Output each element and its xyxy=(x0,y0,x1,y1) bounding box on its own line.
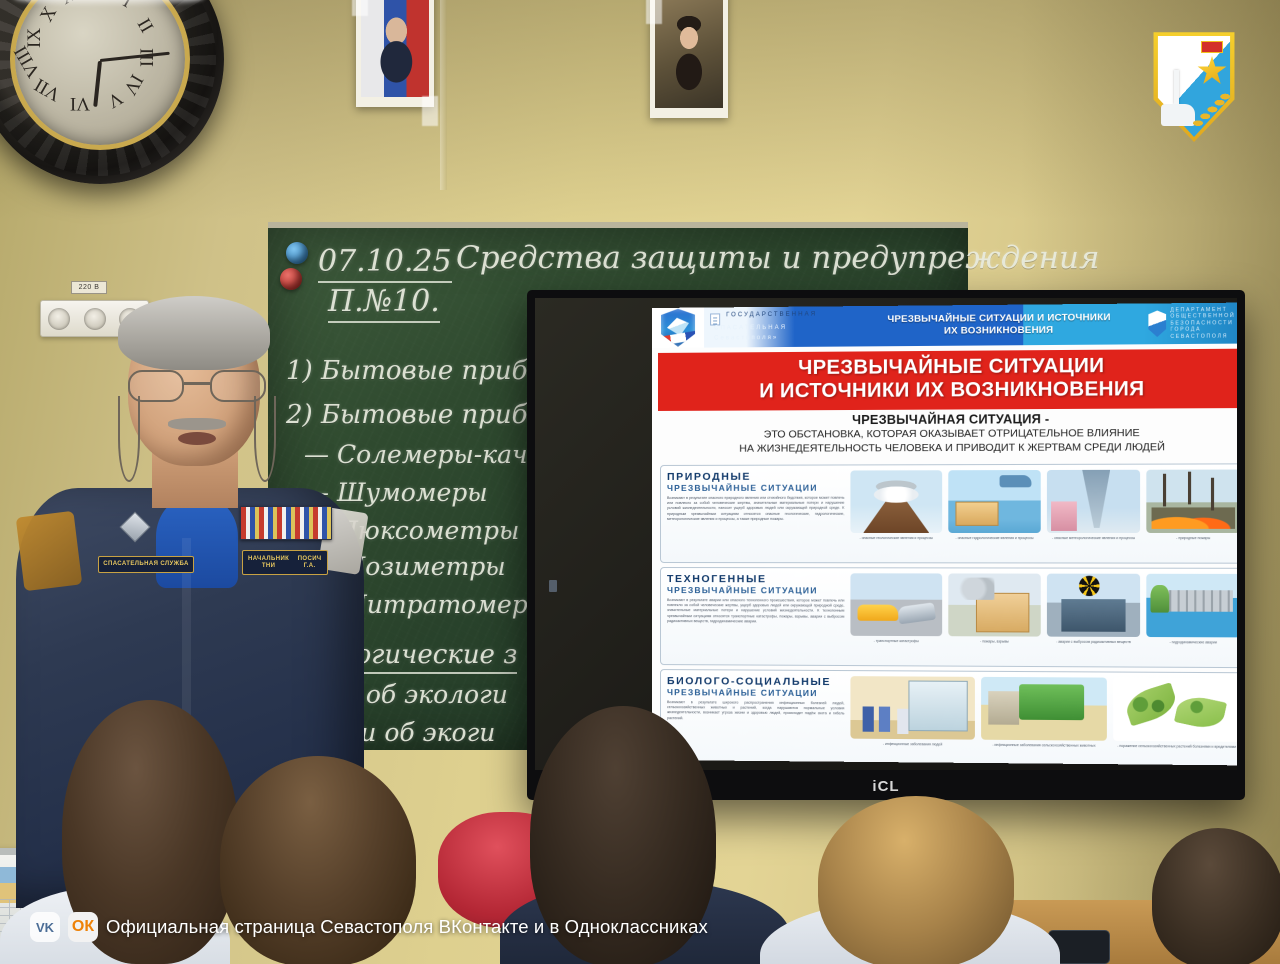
eyeglasses-icon xyxy=(126,370,268,404)
speaker-mouth xyxy=(178,432,216,445)
portrait-tape xyxy=(646,0,662,24)
image-caption: - опасные метеорологические явления и пр… xyxy=(1052,536,1135,541)
car-crash-icon xyxy=(850,573,942,636)
category-subheading: ЧРЕЗВЫЧАЙНЫЕ СИТУАЦИИ xyxy=(667,687,844,698)
category-text: БИОЛОГО-СОЦИАЛЬНЫЕ ЧРЕЗВЫЧАЙНЫЕ СИТУАЦИИ… xyxy=(667,675,844,763)
photo-scene: XIIIIIIIIIVVVIVIIVIIIIXXXI 220 В 07.10.2… xyxy=(0,0,1280,964)
image-caption: - транспортные катастрофы xyxy=(874,639,919,644)
dept-line5: СЕВАСТОПОЛЯ xyxy=(1170,333,1228,340)
slide-image: - опасные гидрологические явления и проц… xyxy=(948,470,1040,557)
image-caption: - инфекционные заболевания сельскохозяйс… xyxy=(992,743,1095,749)
slide-image: - гидродинамические аварии xyxy=(1146,574,1237,662)
presentation-slide[interactable]: ГОСУДАРСТВЕННАЯ СПАСАТЕЛЬНАЯ Севастополя… xyxy=(652,302,1237,765)
slide-header-title: ЧРЕЗВЫЧАЙНЫЕ СИТУАЦИИ И ИСТОЧНИКИ ИХ ВОЗ… xyxy=(856,304,1144,347)
category-heading: ПРИРОДНЫЕ xyxy=(667,471,844,483)
category-images: - опасные геологические явления и процес… xyxy=(850,470,1237,558)
tornado-icon xyxy=(1047,470,1140,533)
name-tag-line1: НАЧАЛЬНИК ТНИ xyxy=(244,556,293,570)
image-caption: - гидродинамические аварии xyxy=(1169,640,1216,645)
category-images: - транспортные катастрофы - пожары, взры… xyxy=(850,573,1237,662)
category-body: Возникают в результате аварии или опасно… xyxy=(667,598,844,625)
category-text: ПРИРОДНЫЕ ЧРЕЗВЫЧАЙНЫЕ СИТУАЦИИ Возникаю… xyxy=(667,471,844,558)
board-title: Средства защиты и предупреждения xyxy=(456,240,1099,276)
image-caption: - природные пожары xyxy=(1176,536,1210,541)
wildfire-icon xyxy=(1146,470,1237,533)
rescue-service-shield-icon xyxy=(652,308,704,348)
slide-definition: ЧРЕЗВЫЧАЙНАЯ СИТУАЦИЯ - ЭТО ОБСТАНОВКА, … xyxy=(652,408,1237,461)
ir-sensor-icon xyxy=(549,580,557,592)
slide-image: - инфекционные заболевания сельскохозяйс… xyxy=(981,677,1107,765)
category-heading: ТЕХНОГЕННЫЕ xyxy=(667,573,844,585)
slide-image: - опасные геологические явления и процес… xyxy=(850,470,942,557)
epidemic-clinic-icon xyxy=(850,676,974,740)
slide-image: - аварии с выбросом радиоактивных вещест… xyxy=(1047,574,1140,662)
department-text: ДЕПАРТАМЕНТ ОБЩЕСТВЕННОЙ БЕЗОПАСНОСТИ ГО… xyxy=(1170,307,1235,341)
clock-numeral: IV xyxy=(118,70,147,98)
wall-seam xyxy=(440,0,447,190)
definition-line2: НА ЖИЗНЕДЕЯТЕЛЬНОСТЬ ЧЕЛОВЕКА И ПРИВОДИТ… xyxy=(662,441,1237,456)
category-body: Возникают в результате опасного природно… xyxy=(667,496,844,522)
red-magnet-icon xyxy=(280,268,302,290)
image-caption: - инфекционные заболевания людей xyxy=(883,742,942,747)
sevastopol-coat-of-arms-icon xyxy=(1148,30,1240,142)
image-caption: - опасные гидрологические явления и проц… xyxy=(955,536,1033,541)
slide-banner: ЧРЕЗВЫЧАЙНЫЕ СИТУАЦИИ И ИСТОЧНИКИ ИХ ВОЗ… xyxy=(658,349,1237,411)
hydro-dam-icon xyxy=(1146,574,1237,638)
speaker-tshirt xyxy=(156,496,238,588)
name-tag: НАЧАЛЬНИК ТНИ ПОСИЧ Г.А. xyxy=(242,550,328,575)
header-title-line1: ЧРЕЗВЫЧАЙНЫЕ СИТУАЦИИ И ИСТОЧНИКИ xyxy=(887,312,1110,326)
speaker-hair xyxy=(118,296,270,370)
icl-logo-icon: iCL xyxy=(872,778,899,795)
image-caption: - поражение сельскохозяйственных растени… xyxy=(1117,744,1236,750)
org-line2: СПАСАТЕЛЬНАЯ xyxy=(714,324,787,333)
category-images: - инфекционные заболевания людей - инфек… xyxy=(850,676,1237,765)
department-block: ДЕПАРТАМЕНТ ОБЩЕСТВЕННОЙ БЕЗОПАСНОСТИ ГО… xyxy=(1143,302,1237,344)
veterinary-icon xyxy=(981,677,1107,741)
banner-line1: ЧРЕЗВЫЧАЙНЫЕ СИТУАЦИИ xyxy=(658,354,1237,381)
portrait-putin-image xyxy=(361,0,429,97)
clock-numeral: IX xyxy=(24,28,46,48)
org-line3: Севастополя» xyxy=(714,334,778,343)
definition-term: ЧРЕЗВЫЧАЙНАЯ СИТУАЦИЯ - xyxy=(662,411,1237,428)
speaker-mustache xyxy=(168,418,226,430)
order-ribbon-icon xyxy=(1201,41,1223,53)
image-caption: - аварии с выбросом радиоактивных вещест… xyxy=(1056,640,1131,645)
nuclear-plant-icon xyxy=(1047,574,1140,637)
dept-line2: ОБЩЕСТВЕННОЙ xyxy=(1170,313,1235,320)
category-body: Возникают в результате широкого распрост… xyxy=(667,700,844,722)
clock-numeral: VI xyxy=(70,92,90,114)
clock-numeral: X xyxy=(36,3,62,26)
category-biosocial: БИОЛОГО-СОЦИАЛЬНЫЕ ЧРЕЗВЫЧАЙНЫЕ СИТУАЦИИ… xyxy=(660,669,1237,765)
blue-magnet-icon xyxy=(286,242,308,264)
category-text: ТЕХНОГЕННЫЕ ЧРЕЗВЫЧАЙНЫЕ СИТУАЦИИ Возник… xyxy=(667,573,844,660)
panel-screen[interactable]: ГОСУДАРСТВЕННАЯ СПАСАТЕЛЬНАЯ Севастополя… xyxy=(535,298,1237,770)
shoulder-patch xyxy=(16,511,83,592)
category-subheading: ЧРЕЗВЫЧАЙНЫЕ СИТУАЦИИ xyxy=(667,483,844,493)
dept-line3: БЕЗОПАСНОСТИ xyxy=(1170,320,1233,327)
slide-image: - инфекционные заболевания людей xyxy=(850,676,974,764)
volcano-icon xyxy=(850,470,942,533)
org-line1: ГОСУДАРСТВЕННАЯ xyxy=(726,311,817,320)
slide-image: - пожары, взрывы xyxy=(948,573,1040,660)
department-emblem-icon xyxy=(1148,310,1166,337)
plant-disease-icon xyxy=(1113,678,1237,742)
name-tag-line2: ПОСИЧ Г.А. xyxy=(293,556,326,570)
category-heading: БИОЛОГО-СОЦИАЛЬНЫЕ xyxy=(667,675,844,688)
portrait-pushkin-image xyxy=(655,0,723,108)
medal-ribbons-icon xyxy=(240,506,332,540)
slide-header: ГОСУДАРСТВЕННАЯ СПАСАТЕЛЬНАЯ Севастополя… xyxy=(652,302,1237,348)
portrait-tape xyxy=(422,96,438,126)
slide-image: - транспортные катастрофы xyxy=(850,573,942,660)
voltage-label: 220 В xyxy=(71,281,107,294)
flood-rescue-icon xyxy=(948,470,1040,533)
caption-bar: VK ОК Официальная страница Севастополя В… xyxy=(0,890,1280,964)
portrait-putin-icon xyxy=(356,0,434,107)
slide-image: - поражение сельскохозяйственных растени… xyxy=(1113,678,1237,766)
category-subheading: ЧРЕЗВЫЧАЙНЫЕ СИТУАЦИИ xyxy=(667,585,844,595)
building-fire-icon xyxy=(948,573,1040,636)
category-natural: ПРИРОДНЫЕ ЧРЕЗВЫЧАЙНЫЕ СИТУАЦИИ Возникаю… xyxy=(660,463,1237,563)
clock-numeral: VII xyxy=(31,73,65,105)
portrait-tape xyxy=(352,0,368,16)
slide-org-block: ГОСУДАРСТВЕННАЯ СПАСАТЕЛЬНАЯ Севастополя… xyxy=(704,306,855,347)
clock-numeral: II xyxy=(132,15,157,37)
header-title-line2: ИХ ВОЗНИКНОВЕНИЯ xyxy=(944,325,1053,338)
laurel-branch-icon xyxy=(1190,92,1230,130)
category-technogenic: ТЕХНОГЕННЫЕ ЧРЕЗВЫЧАЙНЫЕ СИТУАЦИИ Возник… xyxy=(660,567,1237,668)
vk-icon[interactable]: VK xyxy=(30,912,60,942)
chest-patch: СПАСАТЕЛЬНАЯ СЛУЖБА xyxy=(98,556,194,573)
ok-icon[interactable]: ОК xyxy=(68,912,98,942)
slide-image: - природные пожары xyxy=(1146,470,1237,558)
image-caption: - пожары, взрывы xyxy=(980,639,1009,644)
clock-bezel: XIIIIIIIIIVVVIVIIVIIIIXXXI xyxy=(10,0,190,150)
slide-image: - опасные метеорологические явления и пр… xyxy=(1047,470,1140,558)
definition-line1: ЭТО ОБСТАНОВКА, КОТОРАЯ ОКАЗЫВАЕТ ОТРИЦА… xyxy=(662,426,1237,441)
board-date: 07.10.25 xyxy=(318,244,452,283)
image-caption: - опасные геологические явления и процес… xyxy=(860,536,933,541)
caption-text: Официальная страница Севастополя ВКонтак… xyxy=(106,916,708,938)
dept-line4: ГОРОДА xyxy=(1170,327,1201,333)
banner-line2: И ИСТОЧНИКИ ИХ ВОЗНИКНОВЕНИЯ xyxy=(658,377,1237,404)
